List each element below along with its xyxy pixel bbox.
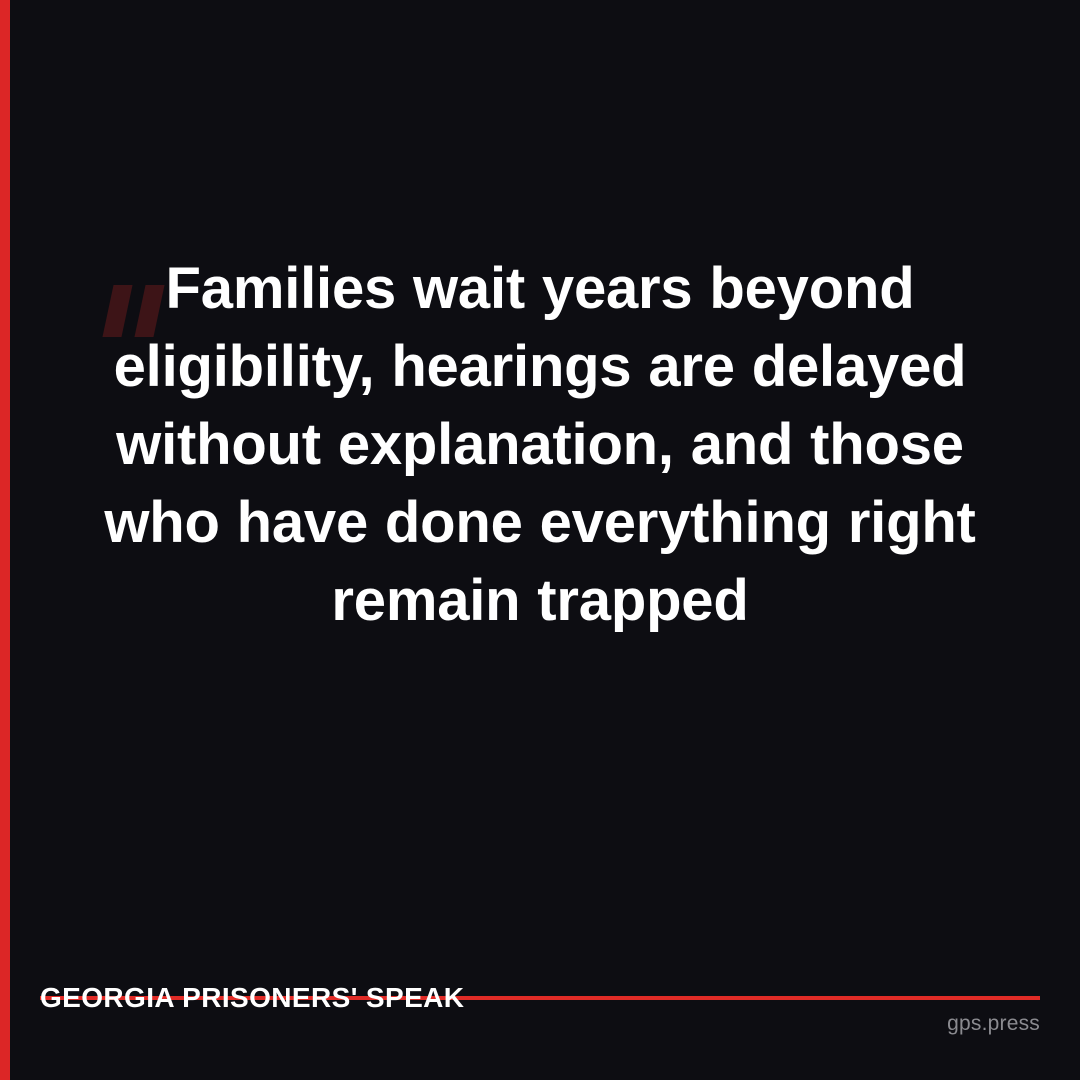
footer: GEORGIA PRISONERS' SPEAK gps.press (0, 960, 1080, 1080)
quote-text: Families wait years beyond eligibility, … (60, 250, 1020, 640)
site-url: gps.press (947, 1012, 1040, 1036)
brand-name: GEORGIA PRISONERS' SPEAK (40, 982, 464, 1014)
quote-card: Families wait years beyond eligibility, … (0, 0, 1080, 1080)
quote-block: Families wait years beyond eligibility, … (60, 250, 1020, 640)
left-accent-stripe (0, 0, 10, 1080)
